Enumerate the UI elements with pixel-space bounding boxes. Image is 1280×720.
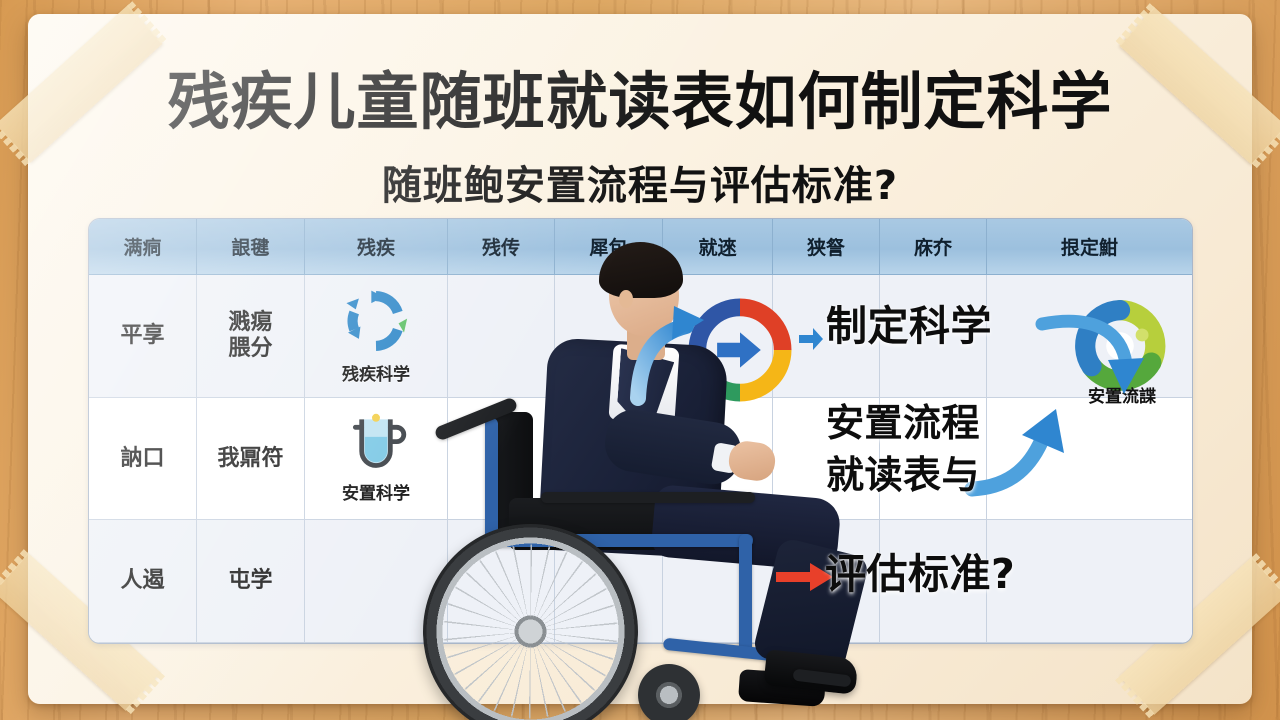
paper-sheet: 残疾儿童随班就读表如何制定科学 随班鲍安置流程与评估标准? 满痌 詪毽 残疾 残… (28, 14, 1252, 704)
person-hand (727, 439, 778, 483)
cycle-arrows-icon (337, 286, 415, 356)
blue-arrow-up-right-icon (628, 306, 708, 402)
page-subtitle: 随班鲍安置流程与评估标准? (28, 164, 1252, 208)
wheelchair-spokes (423, 524, 638, 720)
icon-caption: 残疾科学 (342, 360, 410, 385)
icon-caption: 安置科学 (342, 479, 410, 504)
wheelchair-caster-wheel (638, 664, 700, 720)
poster-canvas: 残疾儿童随班就读表如何制定科学 随班鲍安置流程与评估标准? 满痌 詪毽 残疾 残… (0, 0, 1280, 720)
wheelchair-user-photo (413, 246, 833, 706)
person-hair (599, 242, 683, 298)
table-header-cell: 拫定魽 (987, 219, 1192, 275)
table-cell: 屯学 (197, 520, 305, 643)
callout-text-pinggu-biaozhun: 评估标准? (825, 552, 1015, 598)
table-cell (987, 520, 1192, 643)
table-row-label: 人遏 (89, 520, 197, 643)
table-header-cell: 满痌 (89, 219, 197, 275)
table-cell: 我鼏符 (197, 398, 305, 521)
wheelchair-main-wheel (423, 524, 638, 720)
table-header-cell: 庥夰 (880, 219, 987, 275)
wheelchair-armrest (541, 492, 755, 503)
table-cell: 溅痬 腲分 (197, 275, 305, 398)
blue-arrow-curve-up-icon (968, 409, 1080, 501)
table-header-cell: 詪毽 (197, 219, 305, 275)
callout-text-zhiding-kexue: 制定科学 (826, 304, 992, 350)
wheelchair-frame-back (485, 418, 498, 540)
callout-text-anzhi-liucheng: 安置流程 (826, 402, 980, 445)
beaker-icon (344, 413, 408, 475)
blue-arrow-right-small-icon (798, 326, 824, 352)
blue-arrow-curve-down-icon (1038, 314, 1148, 400)
table-row-label: 平享 (89, 275, 197, 398)
table-row-label: 訥口 (89, 398, 197, 521)
callout-text-jiudubiao-yu: 就读表与 (826, 454, 980, 497)
wheelchair-frame-front (739, 534, 752, 656)
page-title: 残疾儿童随班就读表如何制定科学 (28, 70, 1252, 133)
